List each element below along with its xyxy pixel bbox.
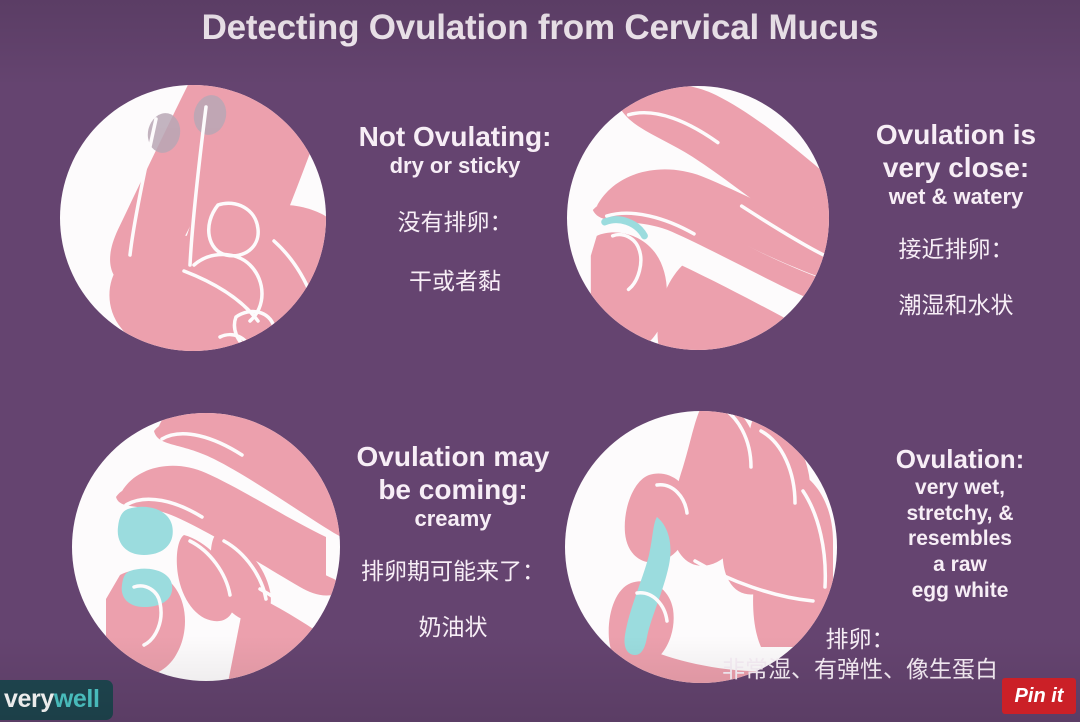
panel-chinese-not-ovulating-line1: 没有排卵： <box>330 207 580 238</box>
panel-subheading-ovulation-line5: egg white <box>846 578 1074 604</box>
pin-it-button[interactable]: Pin it <box>1002 678 1076 714</box>
panel-subheading-ovulation-line3: resembles <box>846 526 1074 552</box>
panel-text-ovulation: Ovulation: very wet, stretchy, & resembl… <box>846 444 1074 603</box>
verywell-logo: verywell <box>0 680 113 720</box>
panel-heading-very-close-line2: very close: <box>840 151 1072 184</box>
illustration-ovulation-may-be-coming <box>72 413 340 681</box>
panel-subheading-ovulation-line1: very wet, <box>846 475 1074 501</box>
panel-subheading-ovulation-line2: stretchy, & <box>846 501 1074 527</box>
panel-subheading-not-ovulating: dry or sticky <box>330 153 580 179</box>
panel-subheading-very-close: wet & watery <box>840 184 1072 210</box>
panel-chinese-very-close-line1: 接近排卵： <box>840 234 1072 265</box>
panel-chinese-ovulation-line1: 排卵： <box>640 624 1080 654</box>
page-title: Detecting Ovulation from Cervical Mucus <box>0 8 1080 48</box>
panel-heading-not-ovulating: Not Ovulating: <box>330 120 580 153</box>
illustration-ovulation-very-close <box>567 86 829 350</box>
creamy-mucus-blobs <box>118 507 173 607</box>
panel-chinese-very-close-line2: 潮湿和水状 <box>840 290 1072 321</box>
illustration-not-ovulating <box>60 85 326 351</box>
panel-text-ovulation-very-close: Ovulation is very close: wet & watery 接近… <box>840 118 1072 321</box>
panel-chinese-may-be-coming-line2: 奶油状 <box>322 612 584 643</box>
hand-shape-creamy <box>106 413 340 681</box>
panel-subheading-may-be-coming: creamy <box>322 506 584 532</box>
panel-chinese-not-ovulating-line2: 干或者黏 <box>330 266 580 297</box>
panel-chinese-ovulation: 排卵： 非常湿、有弹性、像生蛋白 <box>640 624 1080 685</box>
panel-heading-ovulation: Ovulation: <box>846 444 1074 475</box>
panel-chinese-may-be-coming-line1: 排卵期可能来了： <box>322 556 584 587</box>
panel-heading-very-close-line1: Ovulation is <box>840 118 1072 151</box>
panel-subheading-ovulation-line4: a raw <box>846 552 1074 578</box>
hand-shape-dry <box>96 85 326 351</box>
verywell-logo-part2: well <box>54 685 100 713</box>
panel-heading-may-be-coming-line1: Ovulation may <box>322 440 584 473</box>
verywell-logo-part1: very <box>4 685 54 713</box>
panel-text-ovulation-may-be-coming: Ovulation may be coming: creamy 排卵期可能来了：… <box>322 440 584 643</box>
panel-heading-may-be-coming-line2: be coming: <box>322 473 584 506</box>
infographic-canvas: Detecting Ovulation from Cervical Mucus <box>0 0 1080 722</box>
hand-shape-watery <box>591 86 829 350</box>
panel-text-not-ovulating: Not Ovulating: dry or sticky 没有排卵： 干或者黏 <box>330 120 580 298</box>
